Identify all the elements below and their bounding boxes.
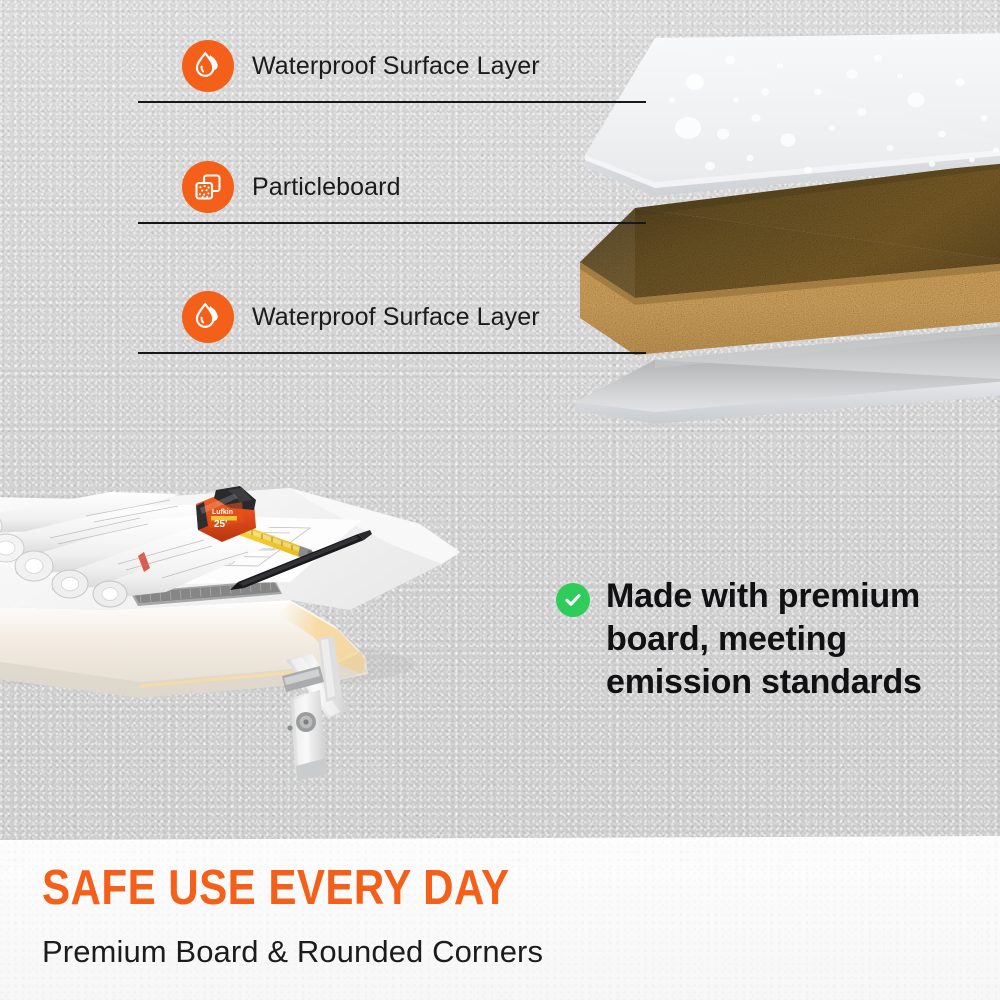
product-feature-image: Waterproof Surface Layer: [0, 0, 1000, 1000]
particleboard-icon: [182, 161, 234, 213]
callout-particleboard: Particleboard: [182, 161, 401, 213]
leader-line-bottom: [138, 352, 646, 354]
water-drop-icon: [182, 291, 234, 343]
callout-waterproof-top: Waterproof Surface Layer: [182, 40, 540, 92]
bottom-banner: SAFE USE EVERY DAY Premium Board & Round…: [0, 836, 1000, 1000]
feature-bullet: Made with premium board, meeting emissio…: [556, 575, 956, 703]
callout-waterproof-bottom: Waterproof Surface Layer: [182, 291, 540, 343]
feature-text: Made with premium board, meeting emissio…: [606, 575, 956, 703]
leader-line-middle: [138, 222, 646, 224]
svg-text:Lufkin: Lufkin: [212, 509, 233, 516]
water-drop-icon: [182, 40, 234, 92]
svg-text:25': 25': [214, 519, 228, 530]
callout-label: Waterproof Surface Layer: [252, 303, 540, 332]
board-layer-diagram: [560, 30, 1000, 430]
check-circle-icon: [556, 583, 590, 617]
banner-subline: Premium Board & Rounded Corners: [42, 934, 543, 970]
callout-label: Particleboard: [252, 173, 401, 202]
callout-label: Waterproof Surface Layer: [252, 52, 540, 81]
banner-headline: SAFE USE EVERY DAY: [42, 860, 510, 916]
leader-line-top: [138, 101, 646, 103]
wall-mounted-folding-desk-photo: Lufkin 25': [0, 460, 510, 800]
